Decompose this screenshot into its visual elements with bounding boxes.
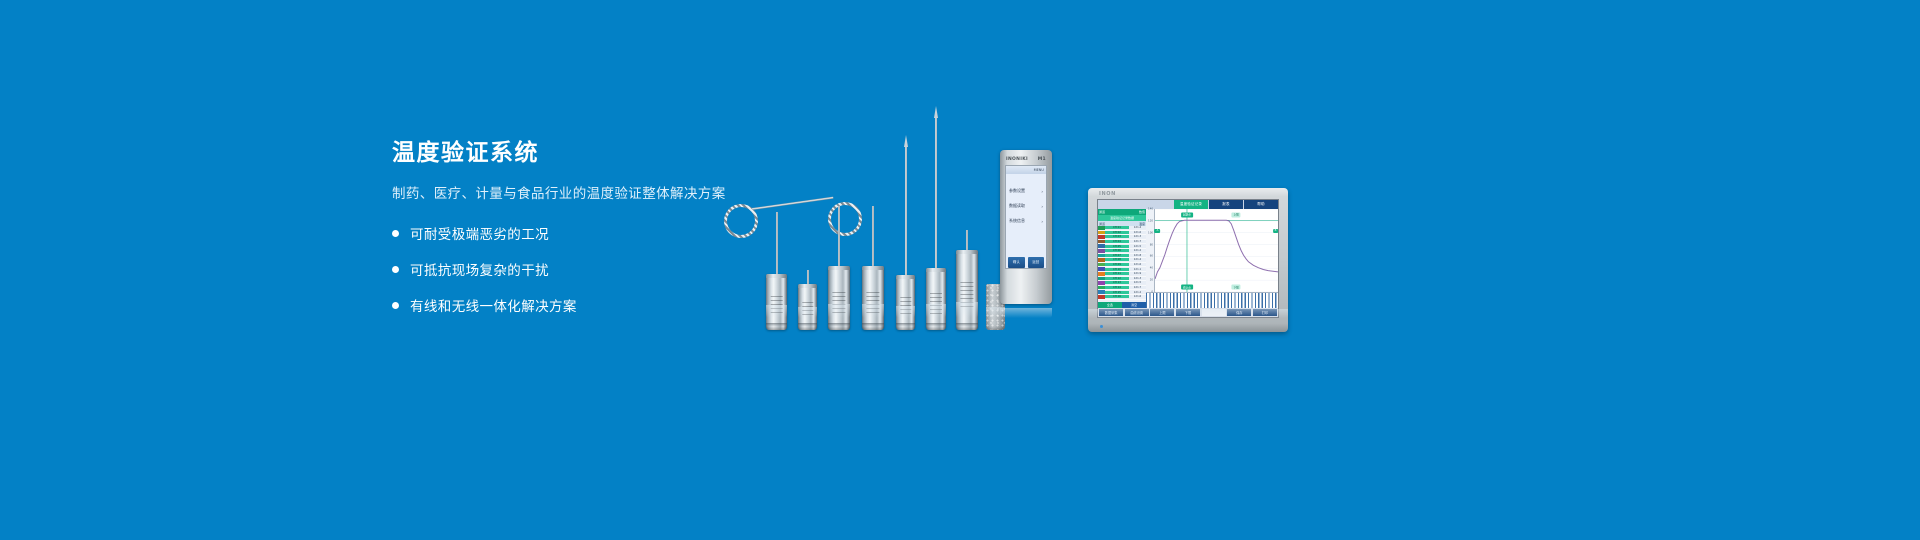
channel-color-swatch (1098, 226, 1105, 230)
channel-sidebar: 通道 数值 温度验证记录数据 通道 温度 CH 01121.4CH 02121.… (1098, 209, 1146, 308)
channel-name: CH 05 (1105, 245, 1129, 248)
channel-color-swatch (1098, 235, 1105, 239)
probe-wire (838, 206, 840, 266)
tab-records[interactable]: 温度验证记录 (1174, 200, 1208, 209)
tab-report[interactable]: 报表 (1209, 200, 1243, 209)
probe-label (930, 293, 942, 314)
probe-body (896, 275, 915, 330)
handheld-menu-item[interactable]: 系统信息 › (1009, 218, 1043, 224)
channel-value: 121.2 (1129, 291, 1146, 294)
channel-value: 121.6 (1129, 295, 1146, 298)
probe-logger (828, 266, 850, 330)
channel-value: 121.3 (1129, 277, 1146, 280)
probe-label (866, 292, 879, 314)
channel-value: 121.4 (1129, 258, 1146, 261)
probe-logger (896, 275, 915, 330)
handheld-menu-item[interactable]: 参数设置 › (1009, 188, 1043, 194)
probe-wire (807, 270, 809, 284)
channel-color-swatch (1098, 295, 1105, 299)
channel-color-swatch (1098, 272, 1105, 276)
channel-name: CH 10 (1105, 268, 1129, 271)
channel-value: 121.1 (1129, 268, 1146, 271)
monitor-display: INON 温度验证记录 报表 帮助 通道 (1088, 188, 1288, 332)
chevron-right-icon: › (1041, 189, 1043, 194)
probe-body (862, 266, 884, 330)
column-header-temp: 温度 (1139, 222, 1145, 226)
handheld-menu-label: 系统信息 (1009, 218, 1025, 224)
chart-panel: 020406080100120140 起始点 终止 (1146, 209, 1278, 308)
channel-name: CH 07 (1105, 254, 1129, 257)
handheld-brand: INONIKI (1006, 157, 1028, 162)
channel-name: CH 04 (1105, 240, 1129, 243)
channel-color-swatch (1098, 244, 1105, 248)
monitor-brand: INON (1099, 191, 1116, 197)
probe-arm-wire (752, 197, 833, 210)
channel-name: CH 14 (1105, 286, 1129, 289)
tab-help[interactable]: 帮助 (1244, 200, 1278, 209)
probe-label (802, 302, 813, 318)
channel-value: 121.4 (1129, 226, 1146, 229)
channel-name: CH 01 (1105, 226, 1129, 229)
list-item-label: 可耐受极端恶劣的工况 (410, 223, 549, 243)
probe-cap (896, 275, 915, 279)
probe-logger (766, 274, 787, 330)
handheld-keypad: 确认 返回 (1006, 254, 1046, 268)
probe-body (956, 250, 978, 330)
bullet-dot-icon (392, 266, 399, 273)
channel-color-swatch (1098, 249, 1105, 253)
chart-canvas[interactable]: 起始点 终止点 A B 上限 下限 (1155, 209, 1278, 292)
monitor-screen: 温度验证记录 报表 帮助 通道 数值 温度验证记录数据 (1097, 199, 1279, 318)
y-axis-tick-label: 0 (1151, 291, 1153, 294)
channel-name: CH 06 (1105, 249, 1129, 252)
channel-color-swatch (1098, 240, 1105, 244)
channel-color-swatch (1098, 263, 1105, 267)
probe-label (960, 282, 973, 309)
channel-name: CH 03 (1105, 235, 1129, 238)
bullet-dot-icon (392, 230, 399, 237)
probe-cap (766, 274, 787, 278)
probe-wire (776, 212, 778, 274)
chart-svg (1155, 209, 1278, 292)
probe-logger (862, 266, 884, 330)
handheld-back-button[interactable]: 返回 (1028, 257, 1045, 268)
hero-banner: 温度验证系统 制药、医疗、计量与食品行业的温度验证整体解决方案 可耐受极端恶劣的… (0, 0, 1920, 540)
channel-name: CH 15 (1105, 291, 1129, 294)
chart-series-line (1155, 220, 1278, 279)
channel-name: CH 13 (1105, 281, 1129, 284)
probe-needle-icon (905, 147, 907, 275)
monitor-bezel: INON 温度验证记录 报表 帮助 通道 (1088, 188, 1288, 332)
x-axis-strip (1146, 292, 1278, 308)
toolbar-button-6[interactable]: 打印 (1253, 309, 1277, 316)
channel-name: CH 11 (1105, 272, 1129, 275)
y-axis-tick-label: 140 (1148, 208, 1153, 211)
column-header-channel: 通道 (1099, 222, 1105, 226)
probe-label (832, 292, 845, 314)
probe-logger (956, 250, 978, 330)
channel-row[interactable]: CH 16121.6 (1098, 295, 1146, 300)
probe-label (900, 297, 911, 316)
probe-cap (926, 268, 946, 272)
probe-label (770, 296, 783, 315)
channel-value: 121.5 (1129, 245, 1146, 248)
toolbar-button-3[interactable]: 下限 (1176, 309, 1200, 316)
probe-logger (926, 268, 946, 330)
sidebar-header-right: 数值 (1139, 210, 1145, 214)
y-axis-tick-label: 120 (1148, 219, 1153, 222)
channel-value: 121.7 (1129, 286, 1146, 289)
channel-color-swatch (1098, 254, 1105, 258)
channel-color-swatch (1098, 290, 1105, 294)
channel-value: 121.6 (1129, 231, 1146, 234)
chevron-right-icon: › (1041, 204, 1043, 209)
channel-name: CH 09 (1105, 263, 1129, 266)
y-axis-tick-label: 40 (1150, 267, 1153, 270)
probe-wire (872, 206, 874, 266)
tab-bar-spacer (1098, 200, 1173, 209)
channel-value: 121.6 (1129, 263, 1146, 266)
handheld-model: M1 (1038, 157, 1046, 162)
channel-color-swatch (1098, 277, 1105, 281)
channel-value: 121.5 (1129, 281, 1146, 284)
probe-cap (862, 266, 884, 270)
y-axis: 020406080100120140 (1146, 209, 1155, 292)
marker-lower-limit[interactable]: 下限 (1232, 285, 1241, 290)
chevron-right-icon: › (1041, 219, 1043, 224)
handheld-menu-item[interactable]: 数据读取 › (1009, 203, 1043, 209)
channel-name: CH 08 (1105, 258, 1129, 261)
handheld-menu-label: 数据读取 (1009, 203, 1025, 209)
handheld-screen-title: MENU (1006, 166, 1046, 174)
channel-value: 121.3 (1129, 235, 1146, 238)
toolbar-button-0[interactable]: 数据采集 (1099, 309, 1123, 316)
software-toolbar: 数据采集曲线设置上限下限保存打印 (1098, 308, 1278, 317)
chart-body: 020406080100120140 起始点 终止 (1146, 209, 1278, 292)
channel-value: 121.9 (1129, 272, 1146, 275)
channel-value: 121.2 (1129, 249, 1146, 252)
handheld-menu-label: 参数设置 (1009, 188, 1025, 194)
probe-coil-icon (828, 202, 862, 236)
software-tab-bar: 温度验证记录 报表 帮助 (1098, 200, 1278, 209)
probe-wire (966, 230, 968, 250)
marker-a[interactable]: A (1155, 229, 1161, 233)
probe-cap (828, 266, 850, 270)
channel-name: CH 12 (1105, 277, 1129, 280)
channel-row-list[interactable]: CH 01121.4CH 02121.6CH 03121.3CH 04121.7… (1098, 226, 1146, 302)
channel-name: CH 02 (1105, 231, 1129, 234)
channel-color-swatch (1098, 231, 1105, 235)
marker-start[interactable]: 起始点 (1181, 212, 1193, 217)
handheld-confirm-button[interactable]: 确认 (1008, 257, 1025, 268)
bullet-dot-icon (392, 302, 399, 309)
probe-body (798, 284, 817, 330)
channel-value: 121.7 (1129, 240, 1146, 243)
channel-color-swatch (1098, 267, 1105, 271)
marker-end[interactable]: 终止点 (1181, 285, 1193, 290)
power-led-icon (1100, 325, 1103, 328)
handheld-brand-row: INONIKI M1 (1005, 157, 1047, 165)
probe-cap (798, 284, 817, 288)
channel-name: CH 16 (1105, 295, 1129, 298)
list-item-label: 可抵抗现场复杂的干扰 (410, 259, 549, 279)
sidebar-header-left: 通道 (1099, 210, 1105, 214)
channel-color-swatch (1098, 281, 1105, 285)
probe-body (828, 266, 850, 330)
channel-color-swatch (1098, 258, 1105, 262)
handheld-menu: 参数设置 › 数据读取 › 系统信息 › (1006, 174, 1046, 254)
probe-needle-icon (935, 118, 937, 268)
probe-body (766, 274, 787, 330)
y-axis-tick-label: 20 (1150, 279, 1153, 282)
channel-color-swatch (1098, 286, 1105, 290)
toolbar-button-1[interactable]: 曲线设置 (1125, 309, 1149, 316)
y-axis-tick-label: 100 (1148, 231, 1153, 234)
product-photo-group: INONIKI M1 MENU 参数设置 › 数据读取 › 系统信息 (700, 110, 1220, 330)
chart-gridlines (1155, 209, 1278, 292)
handheld-reader: INONIKI M1 MENU 参数设置 › 数据读取 › 系统信息 (1000, 150, 1052, 304)
y-axis-tick-label: 60 (1150, 255, 1153, 258)
marker-b[interactable]: B (1273, 229, 1279, 233)
probe-logger (798, 284, 817, 330)
probe-cap (956, 250, 978, 254)
handheld-screen: MENU 参数设置 › 数据读取 › 系统信息 › (1005, 165, 1047, 269)
y-axis-tick-label: 80 (1150, 243, 1153, 246)
toolbar-button-5[interactable]: 保存 (1227, 309, 1251, 316)
software-main: 通道 数值 温度验证记录数据 通道 温度 CH 01121.4CH 02121.… (1098, 209, 1278, 308)
probe-body (926, 268, 946, 330)
channel-value: 121.8 (1129, 254, 1146, 257)
toolbar-spacer (1202, 309, 1226, 316)
list-item-label: 有线和无线一体化解决方案 (410, 295, 577, 315)
toolbar-button-2[interactable]: 上限 (1150, 309, 1174, 316)
marker-upper-limit[interactable]: 上限 (1232, 212, 1241, 217)
